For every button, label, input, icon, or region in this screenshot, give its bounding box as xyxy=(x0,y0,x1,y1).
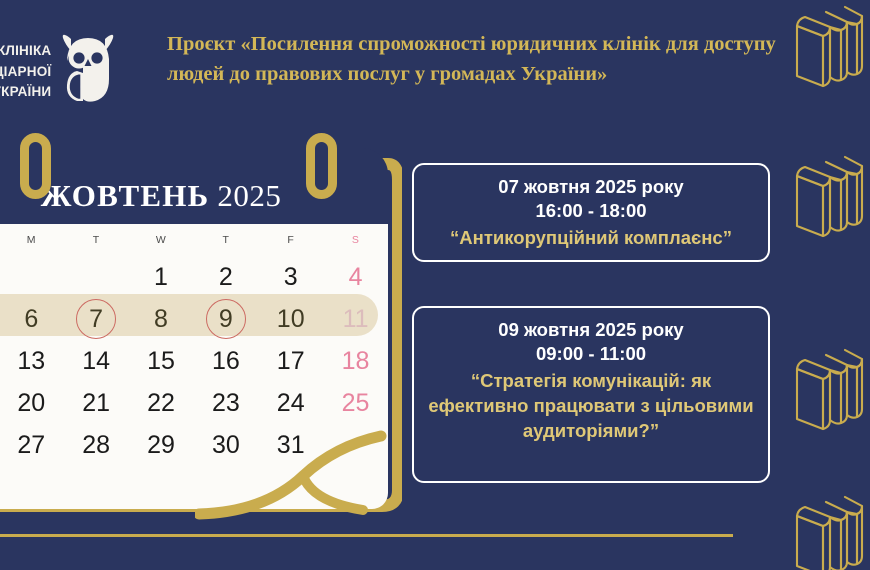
event-topic: “Стратегія комунікацій: як ефективно пра… xyxy=(426,368,756,443)
calendar-day[interactable]: 6 xyxy=(0,298,64,340)
logo-line-2: ТЕНЦІАРНОЇ xyxy=(0,62,51,83)
calendar-day-empty xyxy=(0,256,64,298)
calendar-day[interactable]: 2 xyxy=(193,256,258,298)
calendar-day[interactable]: 9 xyxy=(193,298,258,340)
calendar-day-number: 10 xyxy=(277,305,305,334)
calendar-day-number: 15 xyxy=(147,347,175,376)
calendar-day[interactable]: 16 xyxy=(193,340,258,382)
calendar-day[interactable]: 29 xyxy=(129,424,194,466)
calendar-day[interactable]: 8 xyxy=(129,298,194,340)
calendar-day-number: 28 xyxy=(82,431,110,460)
calendar-day-number: 20 xyxy=(17,389,45,418)
calendar-day-empty xyxy=(64,256,129,298)
weekday-mon: M xyxy=(0,234,64,246)
calendar-day-number: 7 xyxy=(89,305,103,334)
calendar-ring xyxy=(20,133,51,199)
calendar-day-number: 1 xyxy=(154,263,168,292)
calendar-day[interactable]: 15 xyxy=(129,340,194,382)
poster-canvas: НА КЛІНІКА ТЕНЦІАРНОЇ МІЇ УКРАЇНИ Проєкт… xyxy=(0,0,870,570)
calendar-day-number: 29 xyxy=(147,431,175,460)
weekday-fri: F xyxy=(258,234,323,246)
page-title: Проєкт «Посилення спроможності юридичних… xyxy=(167,30,787,89)
calendar-day[interactable]: 4 xyxy=(323,256,388,298)
event-date: 09 жовтня 2025 року xyxy=(426,318,756,342)
bottom-divider xyxy=(0,534,733,537)
calendar-ring xyxy=(306,133,337,199)
calendar-day-number: 18 xyxy=(342,347,370,376)
books-icon xyxy=(789,2,867,94)
calendar-day-number: 9 xyxy=(219,305,233,334)
books-icon xyxy=(789,152,867,244)
page-curl-icon xyxy=(195,410,395,520)
calendar-day[interactable]: 14 xyxy=(64,340,129,382)
books-icon xyxy=(789,345,867,437)
owl-icon xyxy=(57,29,119,115)
calendar-day[interactable]: 7 xyxy=(64,298,129,340)
calendar-day-number: 16 xyxy=(212,347,240,376)
calendar-day-number: 8 xyxy=(154,305,168,334)
logo-text: НА КЛІНІКА ТЕНЦІАРНОЇ МІЇ УКРАЇНИ xyxy=(0,41,51,103)
calendar-day-number: 17 xyxy=(277,347,305,376)
calendar-day[interactable]: 3 xyxy=(258,256,323,298)
event-card[interactable]: 07 жовтня 2025 року 16:00 - 18:00 “Антик… xyxy=(412,163,770,262)
event-time: 16:00 - 18:00 xyxy=(426,199,756,223)
event-time: 09:00 - 11:00 xyxy=(426,342,756,366)
calendar-day[interactable]: 17 xyxy=(258,340,323,382)
books-icon xyxy=(789,492,867,570)
weekday-sat: S xyxy=(323,234,388,246)
calendar-day[interactable]: 22 xyxy=(129,382,194,424)
year-label: 2025 xyxy=(217,178,281,213)
event-topic: “Антикорупційний комплаєнс” xyxy=(426,225,756,250)
month-label: ЖОВТЕНЬ xyxy=(41,178,210,213)
weekday-tue: T xyxy=(64,234,129,246)
calendar-widget: ЖОВТЕНЬ2025 S M T W T F S 12345678910111… xyxy=(0,128,402,523)
weekday-thu: T xyxy=(193,234,258,246)
header: НА КЛІНІКА ТЕНЦІАРНОЇ МІЇ УКРАЇНИ Проєкт… xyxy=(0,0,870,126)
calendar-day-number: 13 xyxy=(17,347,45,376)
calendar-day-number: 4 xyxy=(349,263,363,292)
calendar-day[interactable]: 10 xyxy=(258,298,323,340)
calendar-day[interactable]: 18 xyxy=(323,340,388,382)
calendar-day-number: 11 xyxy=(343,305,369,334)
weekday-header-row: S M T W T F S xyxy=(0,227,388,253)
event-date: 07 жовтня 2025 року xyxy=(426,175,756,199)
calendar-day[interactable]: 27 xyxy=(0,424,64,466)
calendar-day[interactable]: 20 xyxy=(0,382,64,424)
calendar-day[interactable]: 21 xyxy=(64,382,129,424)
logo-line-3: МІЇ УКРАЇНИ xyxy=(0,82,51,103)
weekday-wed: W xyxy=(129,234,194,246)
organization-logo: НА КЛІНІКА ТЕНЦІАРНОЇ МІЇ УКРАЇНИ xyxy=(0,30,166,114)
logo-line-1: НА КЛІНІКА xyxy=(0,41,51,62)
calendar-day[interactable]: 28 xyxy=(64,424,129,466)
calendar-day-number: 6 xyxy=(24,305,38,334)
calendar-day-number: 21 xyxy=(82,389,110,418)
calendar-day[interactable]: 11 xyxy=(323,298,388,340)
calendar-day-number: 3 xyxy=(284,263,298,292)
calendar-day-number: 27 xyxy=(17,431,45,460)
calendar-day-number: 14 xyxy=(82,347,110,376)
calendar-day-number: 2 xyxy=(219,263,233,292)
calendar-day[interactable]: 13 xyxy=(0,340,64,382)
calendar-day[interactable]: 1 xyxy=(129,256,194,298)
event-card[interactable]: 09 жовтня 2025 року 09:00 - 11:00 “Страт… xyxy=(412,306,770,483)
calendar-day-number: 22 xyxy=(147,389,175,418)
